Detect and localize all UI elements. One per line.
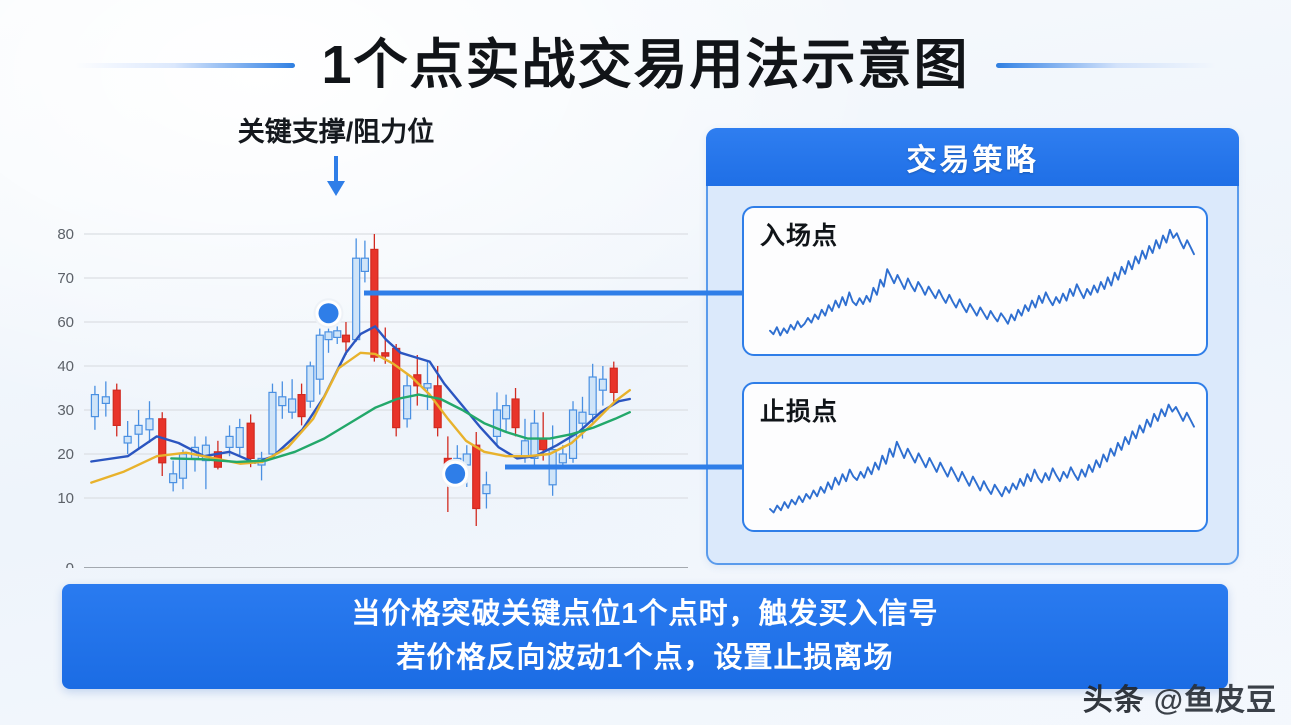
strategy-card-stop-loss-label: 止损点: [760, 392, 838, 428]
page-header: 1个点实战交易用法示意图: [0, 24, 1291, 106]
strategy-panel-title: 交易策略: [907, 135, 1039, 179]
page-title: 1个点实战交易用法示意图: [321, 38, 969, 92]
summary-banner: 当价格突破关键点位1个点时，触发买入信号 若价格反向波动1个点，设置止损离场: [62, 584, 1228, 689]
candlestick-chart: 0102030406070800200400600800100014001600: [36, 182, 696, 568]
title-rule-left: [75, 63, 295, 68]
svg-text:60: 60: [57, 314, 74, 331]
svg-text:20: 20: [57, 446, 74, 463]
strategy-card-entry-label: 入场点: [760, 216, 838, 252]
svg-text:10: 10: [57, 490, 74, 507]
watermark-brand: 头条: [1083, 675, 1145, 719]
svg-text:80: 80: [57, 226, 74, 243]
watermark-handle: @鱼皮豆: [1154, 675, 1277, 719]
summary-line-2: 若价格反向波动1个点，设置止损离场: [396, 639, 893, 678]
watermark: 头条 @鱼皮豆: [1083, 675, 1277, 719]
svg-text:0: 0: [66, 560, 74, 568]
svg-text:70: 70: [57, 270, 74, 287]
summary-line-1: 当价格突破关键点位1个点时，触发买入信号: [351, 595, 938, 634]
key-level-annotation-label: 关键支撑/阻力位: [186, 118, 486, 148]
candlestick-chart-panel: 关键支撑/阻力位 0102030406070800200400600800100…: [36, 118, 696, 568]
strategy-panel: 交易策略 入场点 止损点: [706, 128, 1239, 565]
svg-text:30: 30: [57, 402, 74, 419]
strategy-card-stop-loss[interactable]: 止损点: [742, 382, 1208, 532]
strategy-card-entry[interactable]: 入场点: [742, 206, 1208, 356]
strategy-panel-header: 交易策略: [706, 128, 1239, 186]
title-rule-right: [996, 63, 1216, 68]
svg-text:40: 40: [57, 358, 74, 375]
